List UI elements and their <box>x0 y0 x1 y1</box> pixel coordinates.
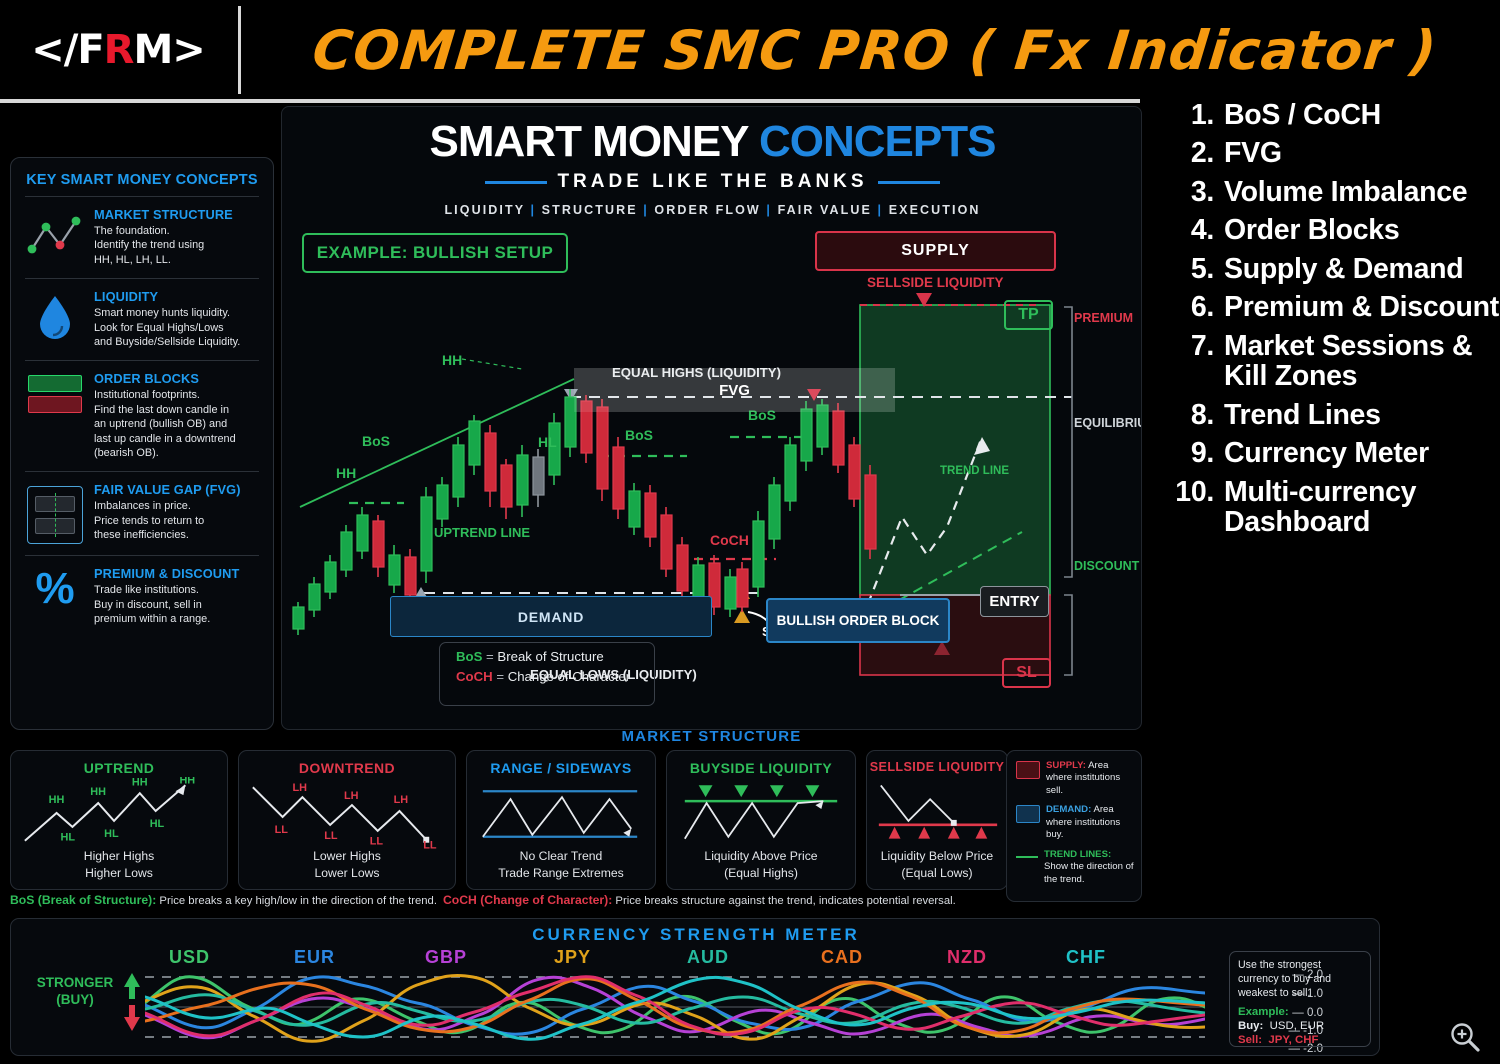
header-divider <box>238 6 241 94</box>
feature-number: 5. <box>1158 254 1214 284</box>
csm-legend-gbp: GBP <box>425 947 467 968</box>
trendline-swatch-icon <box>1016 856 1038 858</box>
ms-card-caption: Lower Highs Lower Lows <box>239 848 455 881</box>
concept-desc: Imbalances in price. Price tends to retu… <box>94 499 261 542</box>
feature-label: Volume Imbalance <box>1224 177 1467 207</box>
legend-coch-key: CoCH <box>456 669 493 684</box>
legend-term: SUPPLY: <box>1046 760 1086 771</box>
csm-legend-chf: CHF <box>1066 947 1106 968</box>
logo-accent: R <box>104 27 134 73</box>
csm-buy-label: (BUY) <box>29 992 121 1009</box>
footnote-coch-text: Price breaks structure against the trend… <box>612 895 955 907</box>
hh-label-2: HH <box>442 352 462 368</box>
demand-zone-label: DEMAND <box>390 596 712 637</box>
water-drop-icon <box>25 289 85 343</box>
feature-list: 1.BoS / CoCH 2.FVG 3.Volume Imbalance 4.… <box>1158 100 1500 546</box>
feature-number: 10. <box>1158 477 1214 538</box>
sellside-liquidity-diagram <box>867 777 1007 849</box>
feature-item-5: 5.Supply & Demand <box>1158 254 1500 284</box>
csm-legend-jpy: JPY <box>554 947 591 968</box>
supply-swatch-icon <box>1016 761 1040 779</box>
feature-item-6: 6.Premium & Discount <box>1158 292 1500 322</box>
legend-coch-val: Change of Character <box>508 669 630 684</box>
csm-tip-example-label: Example: <box>1238 1006 1362 1018</box>
concept-desc: Trade like institutions. Buy in discount… <box>94 583 261 626</box>
uptrend-diagram: HH HL HH HL HH HL HH <box>11 777 227 849</box>
feature-number: 9. <box>1158 438 1214 468</box>
feature-number: 6. <box>1158 292 1214 322</box>
concept-premium-discount: % PREMIUM & DISCOUNT Trade like institut… <box>23 563 261 630</box>
currency-strength-meter: CURRENCY STRENGTH METER STRONGER (BUY) U… <box>10 918 1380 1056</box>
divider <box>25 471 259 472</box>
fvg-zone-label: FVG <box>574 368 895 412</box>
feature-label: Premium & Discount <box>1224 292 1499 322</box>
ms-card-title: BUYSIDE LIQUIDITY <box>667 760 855 776</box>
key-concepts-panel: KEY SMART MONEY CONCEPTS MARKET STRUCTUR… <box>10 157 274 730</box>
svg-text:HL: HL <box>104 828 119 840</box>
svg-text:HH: HH <box>132 777 148 788</box>
concept-title: FAIR VALUE GAP (FVG) <box>94 482 261 497</box>
chart-legend: BoS = Break of Structure CoCH = Change o… <box>439 642 655 706</box>
svg-text:HL: HL <box>61 832 76 844</box>
csm-stronger-label: STRONGER <box>29 975 121 992</box>
bos-label-2: BoS <box>625 427 653 443</box>
ms-card-title: SELLSIDE LIQUIDITY <box>867 760 1007 774</box>
ms-card-caption: No Clear Trend Trade Range Extremes <box>467 848 655 881</box>
concept-liquidity: LIQUIDITY Smart money hunts liquidity. L… <box>23 286 261 353</box>
ms-card-buyside: BUYSIDE LIQUIDITY Liquidity Above Price … <box>666 750 856 890</box>
svg-text:LH: LH <box>394 794 409 806</box>
bullish-order-block-tag: BULLISH ORDER BLOCK <box>766 598 950 643</box>
legend-term: DEMAND: <box>1046 804 1091 815</box>
svg-text:LL: LL <box>275 824 289 836</box>
feature-item-1: 1.BoS / CoCH <box>1158 100 1500 130</box>
header-bar: </FRM> COMPLETE SMC PRO ( Fx Indicator ) <box>0 0 1500 100</box>
take-profit-tag: TP <box>1004 300 1053 330</box>
csm-tip-sell-label: Sell: <box>1238 1034 1262 1046</box>
csm-title: CURRENCY STRENGTH METER <box>11 925 1381 945</box>
csm-plot-area <box>145 967 1205 1047</box>
csm-tip-sell: Sell: JPY, CHF <box>1238 1034 1362 1046</box>
ms-card-title: DOWNTREND <box>239 760 455 776</box>
csm-legend-nzd: NZD <box>947 947 987 968</box>
market-structure-strip: UPTREND HH HL HH HL HH HL HH Higher High… <box>10 750 1142 890</box>
premium-label: PREMIUM <box>1074 311 1133 325</box>
hl-label: HL <box>538 434 557 450</box>
zoom-in-icon[interactable] <box>1448 1020 1482 1054</box>
page-title: COMPLETE SMC PRO ( Fx Indicator ) <box>310 19 1440 82</box>
concept-desc: The foundation. Identify the trend using… <box>94 224 261 267</box>
concept-order-blocks: ORDER BLOCKS Institutional footprints. F… <box>23 368 261 464</box>
concept-desc: Smart money hunts liquidity. Look for Eq… <box>94 306 261 349</box>
footnote-coch: CoCH (Change of Character): Price breaks… <box>443 893 956 907</box>
ms-card-uptrend: UPTREND HH HL HH HL HH HL HH Higher High… <box>10 750 228 890</box>
market-structure-heading: MARKET STRUCTURE <box>281 728 1142 745</box>
discount-label: DISCOUNT <box>1074 559 1139 573</box>
concept-title: MARKET STRUCTURE <box>94 207 261 222</box>
concept-desc: Institutional footprints. Find the last … <box>94 388 261 460</box>
csm-legend-aud: AUD <box>687 947 729 968</box>
feature-item-9: 9.Currency Meter <box>1158 438 1500 468</box>
ms-card-sellside: SELLSIDE LIQUIDITY Liquidity Below Price… <box>866 750 1008 890</box>
svg-text:LH: LH <box>344 790 359 802</box>
hh-label-1: HH <box>336 465 356 481</box>
svg-text:LL: LL <box>324 830 338 842</box>
sellside-liquidity-label: SELLSIDE LIQUIDITY <box>867 275 1004 290</box>
feature-label: Supply & Demand <box>1224 254 1463 284</box>
concepts-heading: KEY SMART MONEY CONCEPTS <box>23 172 261 188</box>
fvg-gap-icon <box>25 482 85 544</box>
csm-legend-usd: USD <box>169 947 210 968</box>
brand-logo: </FRM> <box>0 0 236 100</box>
feature-label: Order Blocks <box>1224 215 1399 245</box>
trend-line-label: TREND LINE <box>940 465 1009 477</box>
feature-number: 1. <box>1158 100 1214 130</box>
feature-number: 2. <box>1158 138 1214 168</box>
csm-tip-buy: Buy: USD, EUR <box>1238 1020 1362 1032</box>
buyside-liquidity-diagram <box>667 777 855 849</box>
ms-card-range: RANGE / SIDEWAYS No Clear Trend Trade Ra… <box>466 750 656 890</box>
ms-card-caption: Liquidity Below Price (Equal Lows) <box>867 848 1007 881</box>
legend-bos-key: BoS <box>456 649 482 664</box>
coch-label: CoCH <box>710 532 749 548</box>
feature-item-10: 10.Multi-currency Dashboard <box>1158 477 1500 538</box>
csm-tip-buy-value: USD, EUR <box>1270 1020 1324 1032</box>
svg-text:HL: HL <box>150 818 165 830</box>
concept-fvg: FAIR VALUE GAP (FVG) Imbalances in price… <box>23 479 261 548</box>
equilibrium-label: EQUILIBRIUM <box>1074 416 1142 430</box>
ms-card-title: UPTREND <box>11 760 227 776</box>
footnote-bos-term: BoS (Break of Structure): <box>10 893 156 907</box>
feature-item-2: 2.FVG <box>1158 138 1500 168</box>
concept-market-structure: MARKET STRUCTURE The foundation. Identif… <box>23 204 261 271</box>
feature-label: Trend Lines <box>1224 400 1381 430</box>
strength-arrows-icon <box>119 971 145 1033</box>
downtrend-diagram: LL LH LL LH LL LH LL <box>239 777 455 849</box>
svg-text:HH: HH <box>179 777 195 786</box>
logo-post: M> <box>133 27 204 73</box>
header-underline <box>0 99 1140 103</box>
ms-card-caption: Higher Highs Higher Lows <box>11 848 227 881</box>
feature-number: 7. <box>1158 331 1214 392</box>
feature-number: 8. <box>1158 400 1214 430</box>
divider <box>25 196 259 197</box>
divider <box>25 278 259 279</box>
uptrend-line-label: UPTREND LINE <box>434 525 530 540</box>
csm-legend-cad: CAD <box>821 947 863 968</box>
feature-number: 3. <box>1158 177 1214 207</box>
svg-text:LL: LL <box>370 836 384 848</box>
header-title-cell: COMPLETE SMC PRO ( Fx Indicator ) <box>250 0 1500 100</box>
footnote-coch-term: CoCH (Change of Character): <box>443 893 612 907</box>
csm-legend-eur: EUR <box>294 947 335 968</box>
percent-icon: % <box>25 566 85 607</box>
ms-card-title: RANGE / SIDEWAYS <box>467 760 655 776</box>
logo-pre: </F <box>31 27 103 73</box>
csm-tip-box: Use the strongest currency to buy and we… <box>1229 951 1371 1047</box>
feature-item-7: 7.Market Sessions & Kill Zones <box>1158 331 1500 392</box>
zigzag-line-icon <box>25 207 85 257</box>
svg-text:LH: LH <box>293 782 308 794</box>
order-block-bars-icon <box>25 371 85 413</box>
svg-text:HH: HH <box>49 794 65 806</box>
entry-tag: ENTRY <box>980 586 1049 617</box>
csm-tip-buy-label: Buy: <box>1238 1020 1263 1032</box>
divider <box>25 555 259 556</box>
csm-tip-text: Use the strongest currency to buy and we… <box>1238 959 1362 1001</box>
csm-axis-note: STRONGER (BUY) <box>29 975 121 1009</box>
legend-demand: DEMAND: Area where institutions buy. <box>1016 804 1134 841</box>
legend-supply: SUPPLY: Area where institutions sell. <box>1016 760 1134 797</box>
feature-label: Market Sessions & Kill Zones <box>1224 331 1500 392</box>
legend-coch-eq: = <box>496 669 504 684</box>
feature-item-8: 8.Trend Lines <box>1158 400 1500 430</box>
zones-legend-card: SUPPLY: Area where institutions sell. DE… <box>1006 750 1142 902</box>
feature-label: Multi-currency Dashboard <box>1224 477 1500 538</box>
ms-card-downtrend: DOWNTREND LL LH LL LH LL LH LL Lower Hig… <box>238 750 456 890</box>
feature-item-4: 4.Order Blocks <box>1158 215 1500 245</box>
ms-card-caption: Liquidity Above Price (Equal Highs) <box>667 848 855 881</box>
stop-loss-tag: SL <box>1002 658 1051 688</box>
legend-trendlines: TREND LINES: Show the direction of the t… <box>1016 849 1134 886</box>
feature-label: FVG <box>1224 138 1282 168</box>
legend-bos-val: Break of Structure <box>497 649 603 664</box>
csm-tip-sell-value: JPY, CHF <box>1268 1034 1318 1046</box>
concept-title: ORDER BLOCKS <box>94 371 261 386</box>
range-diagram <box>467 777 655 849</box>
divider <box>25 360 259 361</box>
feature-number: 4. <box>1158 215 1214 245</box>
concept-title: LIQUIDITY <box>94 289 261 304</box>
legend-text: Show the direction of the trend. <box>1044 861 1134 884</box>
footnote-bos-text: Price breaks a key high/low in the direc… <box>156 895 437 907</box>
legend-term: TREND LINES: <box>1044 849 1111 860</box>
svg-text:HH: HH <box>90 786 106 798</box>
feature-item-3: 3.Volume Imbalance <box>1158 177 1500 207</box>
legend-bos-eq: = <box>486 649 494 664</box>
footnote-bos: BoS (Break of Structure): Price breaks a… <box>10 893 437 907</box>
bos-label-1: BoS <box>362 433 390 449</box>
demand-swatch-icon <box>1016 805 1040 823</box>
feature-label: BoS / CoCH <box>1224 100 1381 130</box>
smc-chart-panel: SMART MONEY CONCEPTS TRADE LIKE THE BANK… <box>281 106 1142 730</box>
feature-label: Currency Meter <box>1224 438 1429 468</box>
concept-title: PREMIUM & DISCOUNT <box>94 566 261 581</box>
